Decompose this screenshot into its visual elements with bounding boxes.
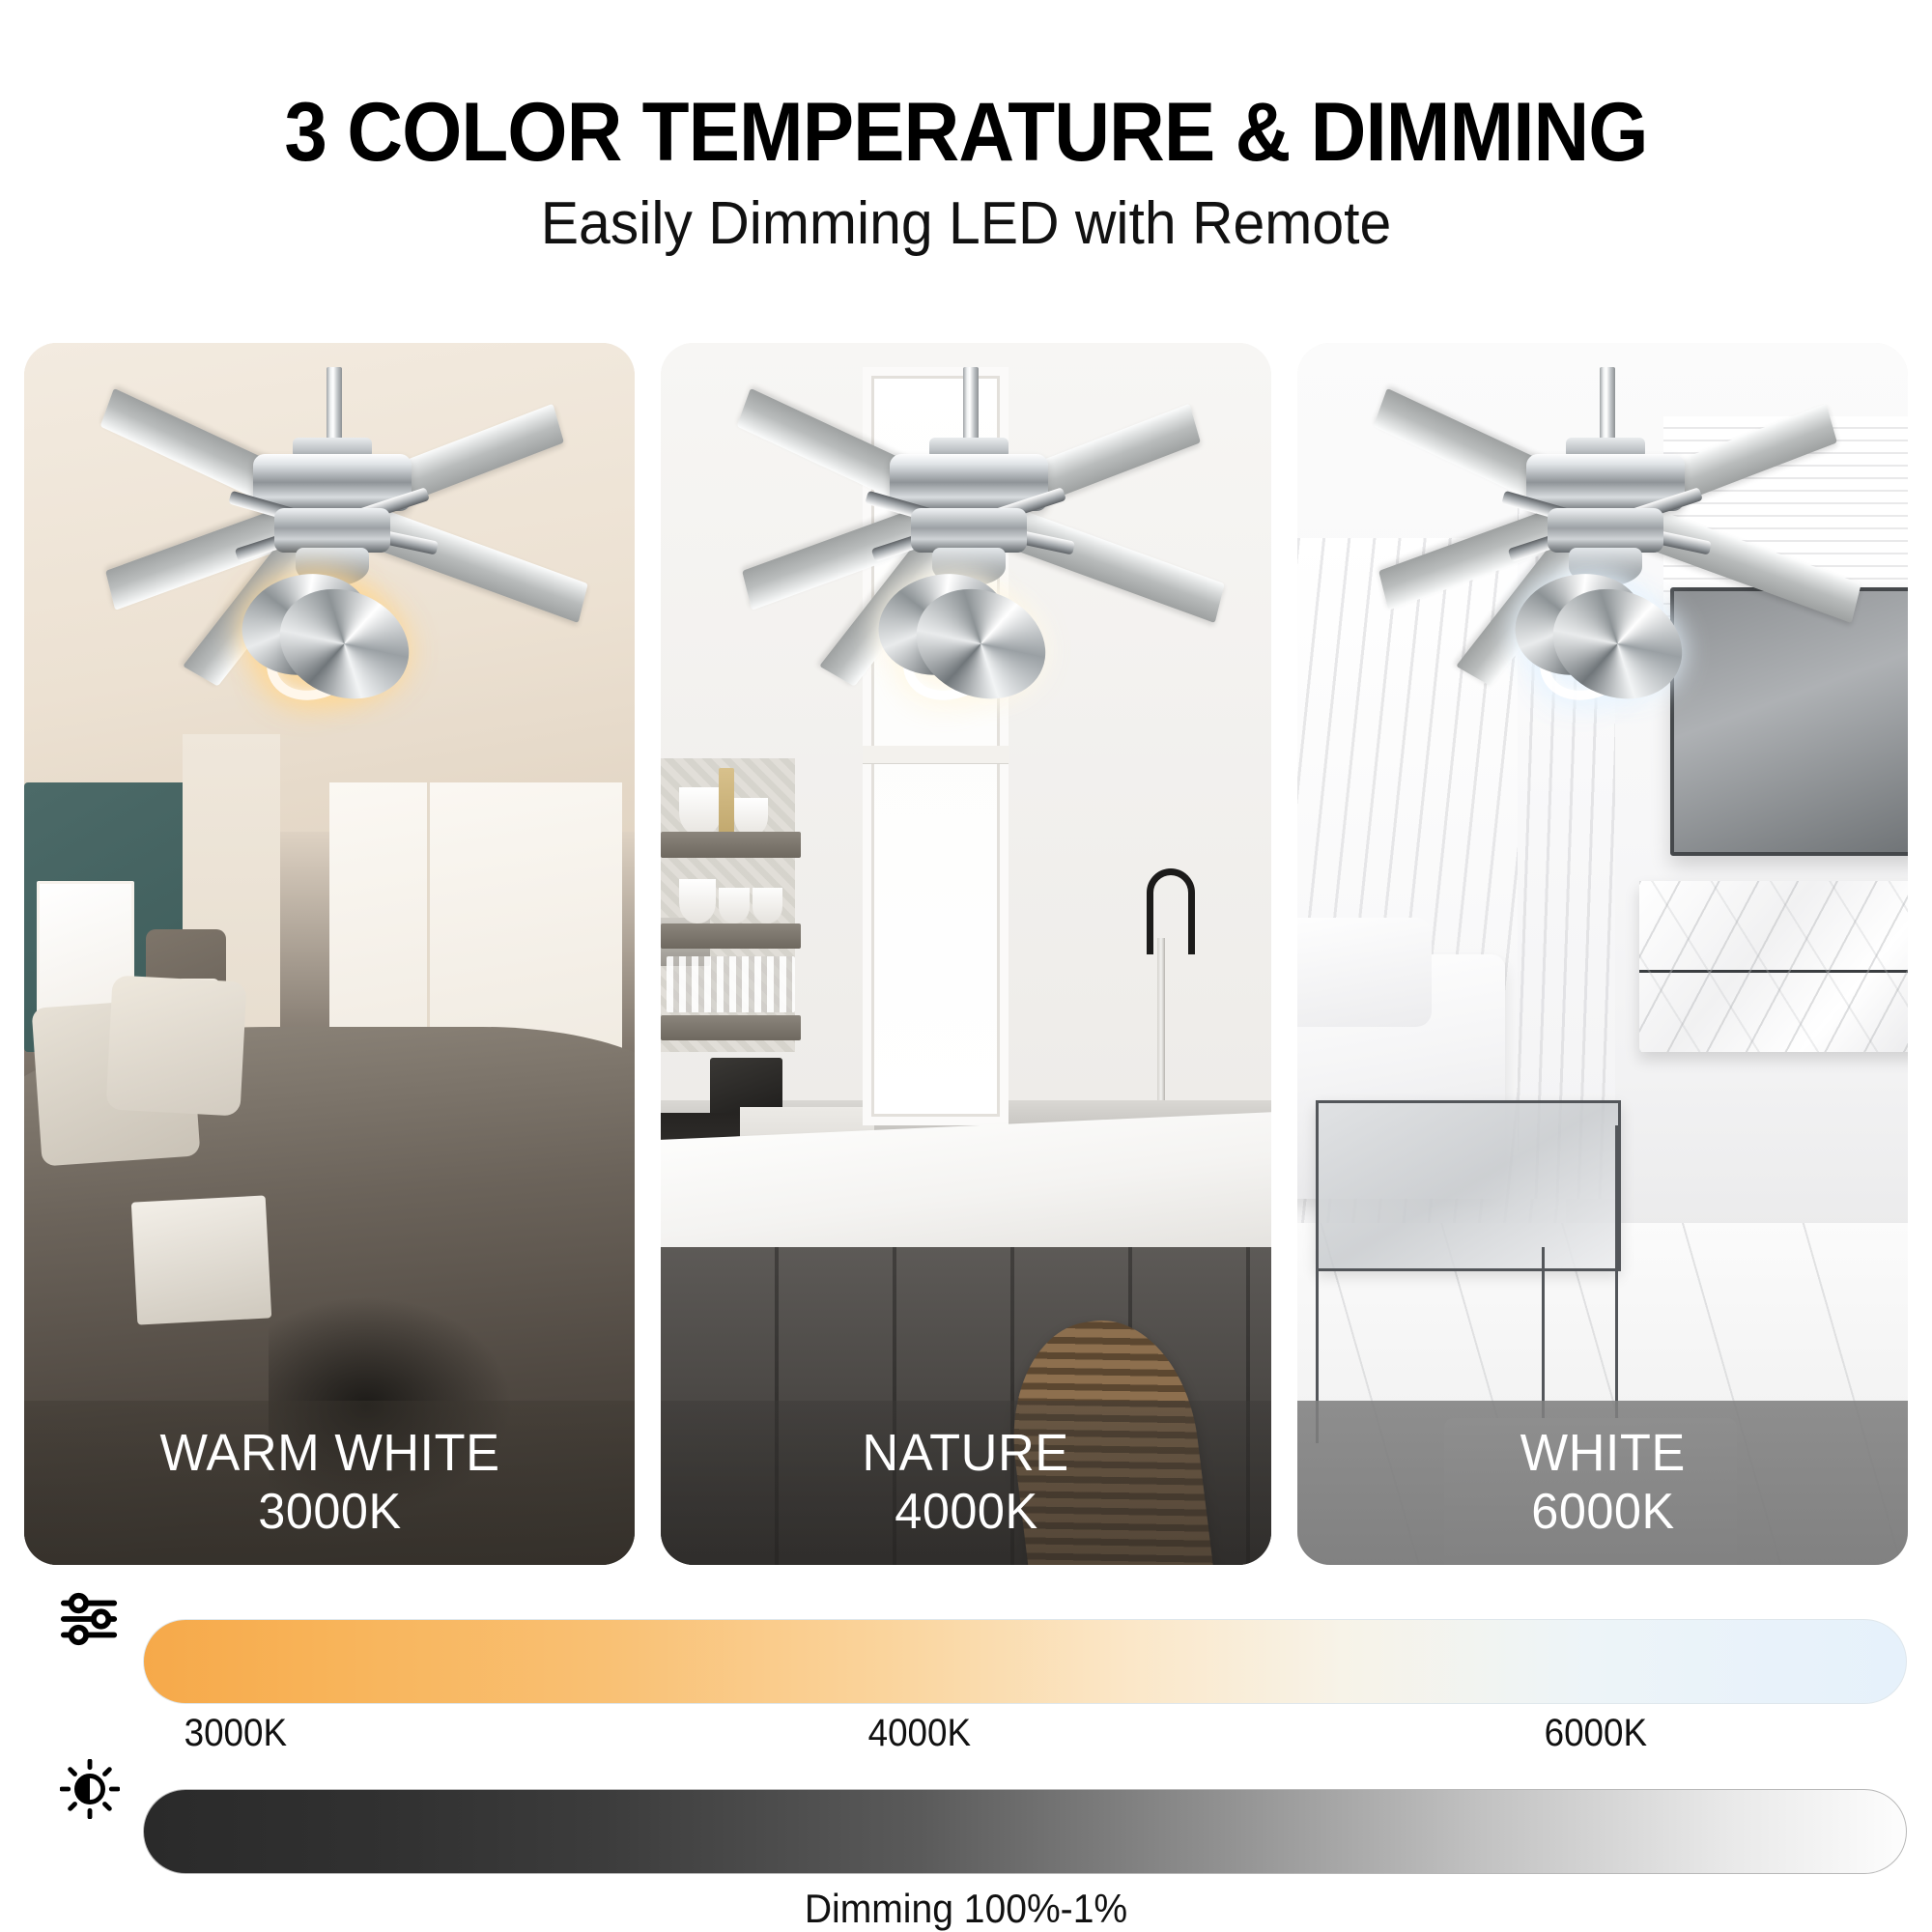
led-light-assembly — [238, 570, 421, 705]
color-temperature-panels: WARM WHITE 3000K — [24, 343, 1908, 1565]
brightness-icon[interactable] — [60, 1759, 120, 1819]
panel-warm-white[interactable]: WARM WHITE 3000K — [24, 343, 635, 1565]
cct-tick-3000k: 3000K — [185, 1712, 287, 1755]
fan-canopy — [293, 438, 372, 456]
cct-tick-6000k: 6000K — [1545, 1712, 1647, 1755]
fan-canopy — [929, 438, 1009, 456]
table-leg — [1615, 1125, 1618, 1419]
panel-caption: WHITE 6000K — [1297, 1401, 1908, 1565]
cct-tick-4000k: 4000K — [868, 1712, 971, 1755]
glass-coffee-table — [1316, 1100, 1621, 1271]
panel-white[interactable]: WHITE 6000K — [1297, 343, 1908, 1565]
page-title: 3 COLOR TEMPERATURE & DIMMING — [68, 85, 1864, 181]
sofa-backrest — [1297, 918, 1432, 1028]
dimming-range-label: Dimming 100%-1% — [68, 1886, 1864, 1932]
led-light-assembly — [874, 570, 1058, 705]
panel-caption: WARM WHITE 3000K — [24, 1401, 635, 1565]
panel-caption: NATURE 4000K — [661, 1401, 1271, 1565]
led-light-assembly — [1511, 570, 1694, 705]
infographic-page: 3 COLOR TEMPERATURE & DIMMING Easily Dim… — [0, 0, 1932, 1932]
sliders-icon[interactable] — [60, 1589, 120, 1649]
panel-kelvin-label: 3000K — [258, 1484, 401, 1540]
open-shelf — [661, 1015, 801, 1041]
panel-mode-label: NATURE — [863, 1426, 1069, 1481]
ceiling-fan — [24, 367, 635, 929]
ceiling-fan — [1297, 367, 1908, 929]
dimming-gradient-bar[interactable] — [143, 1789, 1907, 1874]
pillow — [106, 975, 247, 1116]
panel-mode-label: WARM WHITE — [159, 1426, 499, 1481]
panel-mode-label: WHITE — [1520, 1426, 1685, 1481]
fan-lower-housing — [274, 508, 390, 554]
panel-kelvin-label: 6000K — [1531, 1484, 1674, 1540]
panel-nature[interactable]: NATURE 4000K — [661, 343, 1271, 1565]
fan-lower-housing — [1548, 508, 1663, 554]
fan-lower-housing — [911, 508, 1027, 554]
ceiling-fan — [661, 367, 1271, 929]
hanging-glassware — [667, 956, 795, 1012]
laptop — [131, 1195, 271, 1324]
fan-downrod — [963, 367, 979, 445]
fan-downrod — [327, 367, 342, 445]
fan-canopy — [1566, 438, 1645, 456]
page-subtitle: Easily Dimming LED with Remote — [48, 189, 1884, 258]
cct-gradient-bar[interactable] — [143, 1619, 1907, 1704]
panel-kelvin-label: 4000K — [895, 1484, 1037, 1540]
fan-downrod — [1600, 367, 1615, 445]
